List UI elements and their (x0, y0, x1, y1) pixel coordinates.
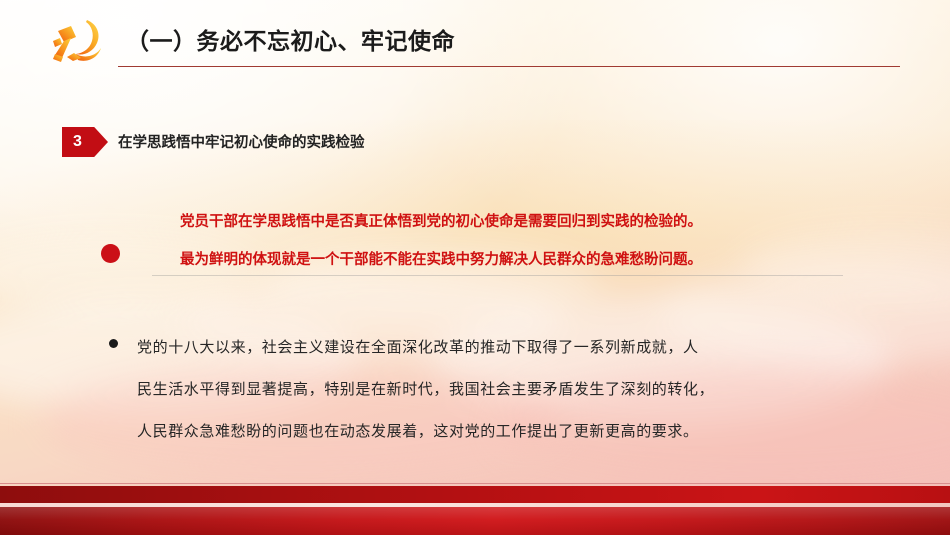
highlight-line: 党员干部在学思践悟中是否真正体悟到党的初心使命是需要回归到实践的检验的。 (180, 203, 856, 241)
content-divider (152, 275, 843, 276)
section-title: 在学思践悟中牢记初心使命的实践检验 (118, 131, 365, 152)
header-divider (118, 66, 900, 67)
footer-dark-band (0, 486, 950, 503)
footer-sheen-overlay (0, 507, 950, 535)
highlight-text-group: 党员干部在学思践悟中是否真正体悟到党的初心使命是需要回归到实践的检验的。 最为鲜… (180, 203, 856, 279)
slide-header: （一）务必不忘初心、牢记使命 (0, 0, 950, 78)
body-line: 党的十八大以来，社会主义建设在全面深化改革的推动下取得了一系列新成就，人 (137, 326, 839, 368)
slide-canvas: （一）务必不忘初心、牢记使命 3 在学思践悟中牢记初心使命的实践检验 党员干部在… (0, 0, 950, 535)
page-title: （一）务必不忘初心、牢记使命 (126, 22, 455, 56)
red-circle-bullet-icon (101, 244, 120, 263)
highlight-line: 最为鲜明的体现就是一个干部能不能在实践中努力解决人民群众的急难愁盼问题。 (180, 241, 856, 279)
body-text-group: 党的十八大以来，社会主义建设在全面深化改革的推动下取得了一系列新成就，人 民生活… (137, 326, 839, 452)
footer-hairline (0, 483, 950, 484)
party-emblem-hammer-sickle-icon (40, 17, 114, 64)
black-circle-bullet-icon (109, 339, 118, 348)
footer-decoration (0, 483, 950, 535)
body-line: 民生活水平得到显著提高，特别是在新时代，我国社会主要矛盾发生了深刻的转化， (137, 368, 839, 410)
body-line: 人民群众急难愁盼的问题也在动态发展着，这对党的工作提出了更新更高的要求。 (137, 410, 839, 452)
